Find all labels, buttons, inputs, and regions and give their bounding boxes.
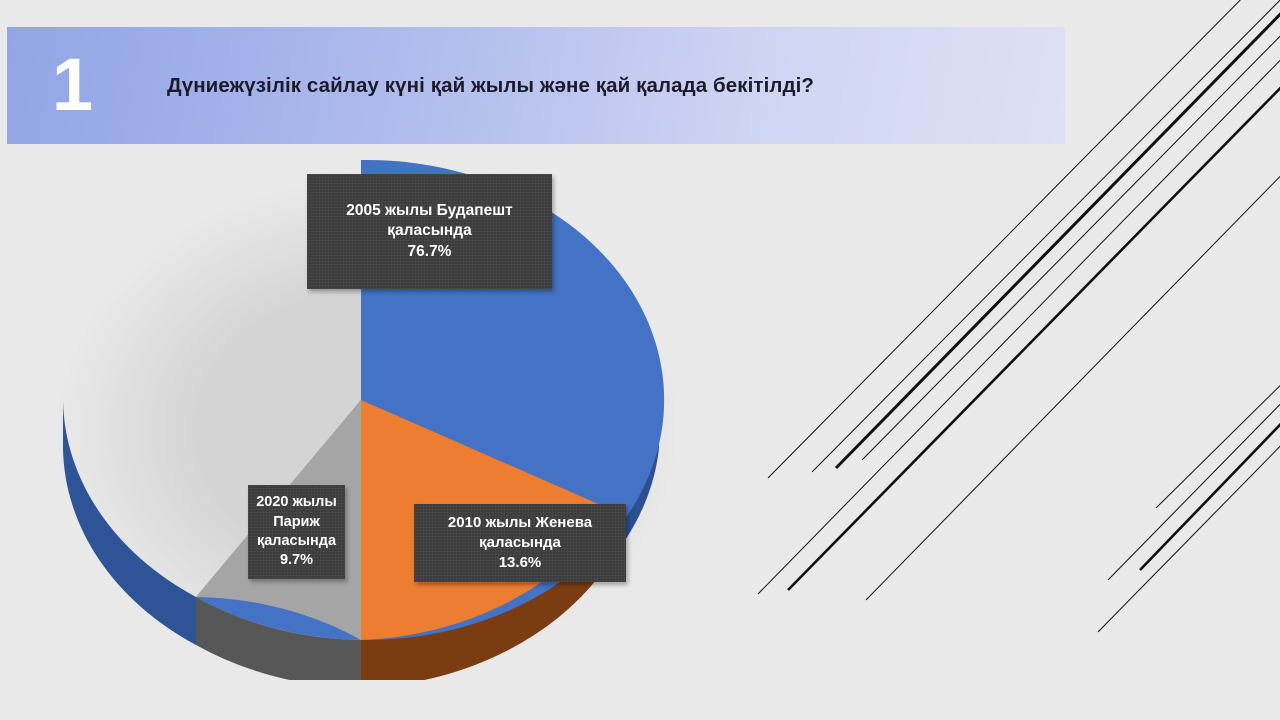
data-label-budapest-category: 2005 жылы Будапешт — [346, 201, 513, 222]
data-label-paris-category-line2: Париж — [273, 513, 320, 532]
data-label-paris-category-line1: 2020 жылы — [256, 493, 337, 512]
header-banner: 1 Дүниежүзілік сайлау күні қай жылы және… — [7, 27, 1065, 144]
data-label-geneva: 2010 жылы Женева қаласында 13.6% — [414, 504, 626, 582]
data-label-geneva-percent: 13.6% — [499, 553, 542, 573]
data-label-geneva-city: қаласында — [479, 533, 561, 553]
question-text: Дүниежүзілік сайлау күні қай жылы және қ… — [167, 27, 1025, 144]
slide-canvas: 1 Дүниежүзілік сайлау күні қай жылы және… — [0, 0, 1280, 720]
question-number: 1 — [37, 35, 107, 135]
data-label-budapest: 2005 жылы Будапешт қаласында 76.7% — [307, 174, 552, 289]
data-label-budapest-percent: 76.7% — [408, 242, 452, 263]
data-label-paris: 2020 жылы Париж қаласында 9.7% — [248, 485, 345, 579]
data-label-paris-percent: 9.7% — [280, 551, 313, 570]
data-label-geneva-category: 2010 жылы Женева — [448, 513, 592, 533]
data-label-budapest-city: қаласында — [387, 221, 472, 242]
data-label-paris-city: қаласында — [257, 532, 336, 551]
